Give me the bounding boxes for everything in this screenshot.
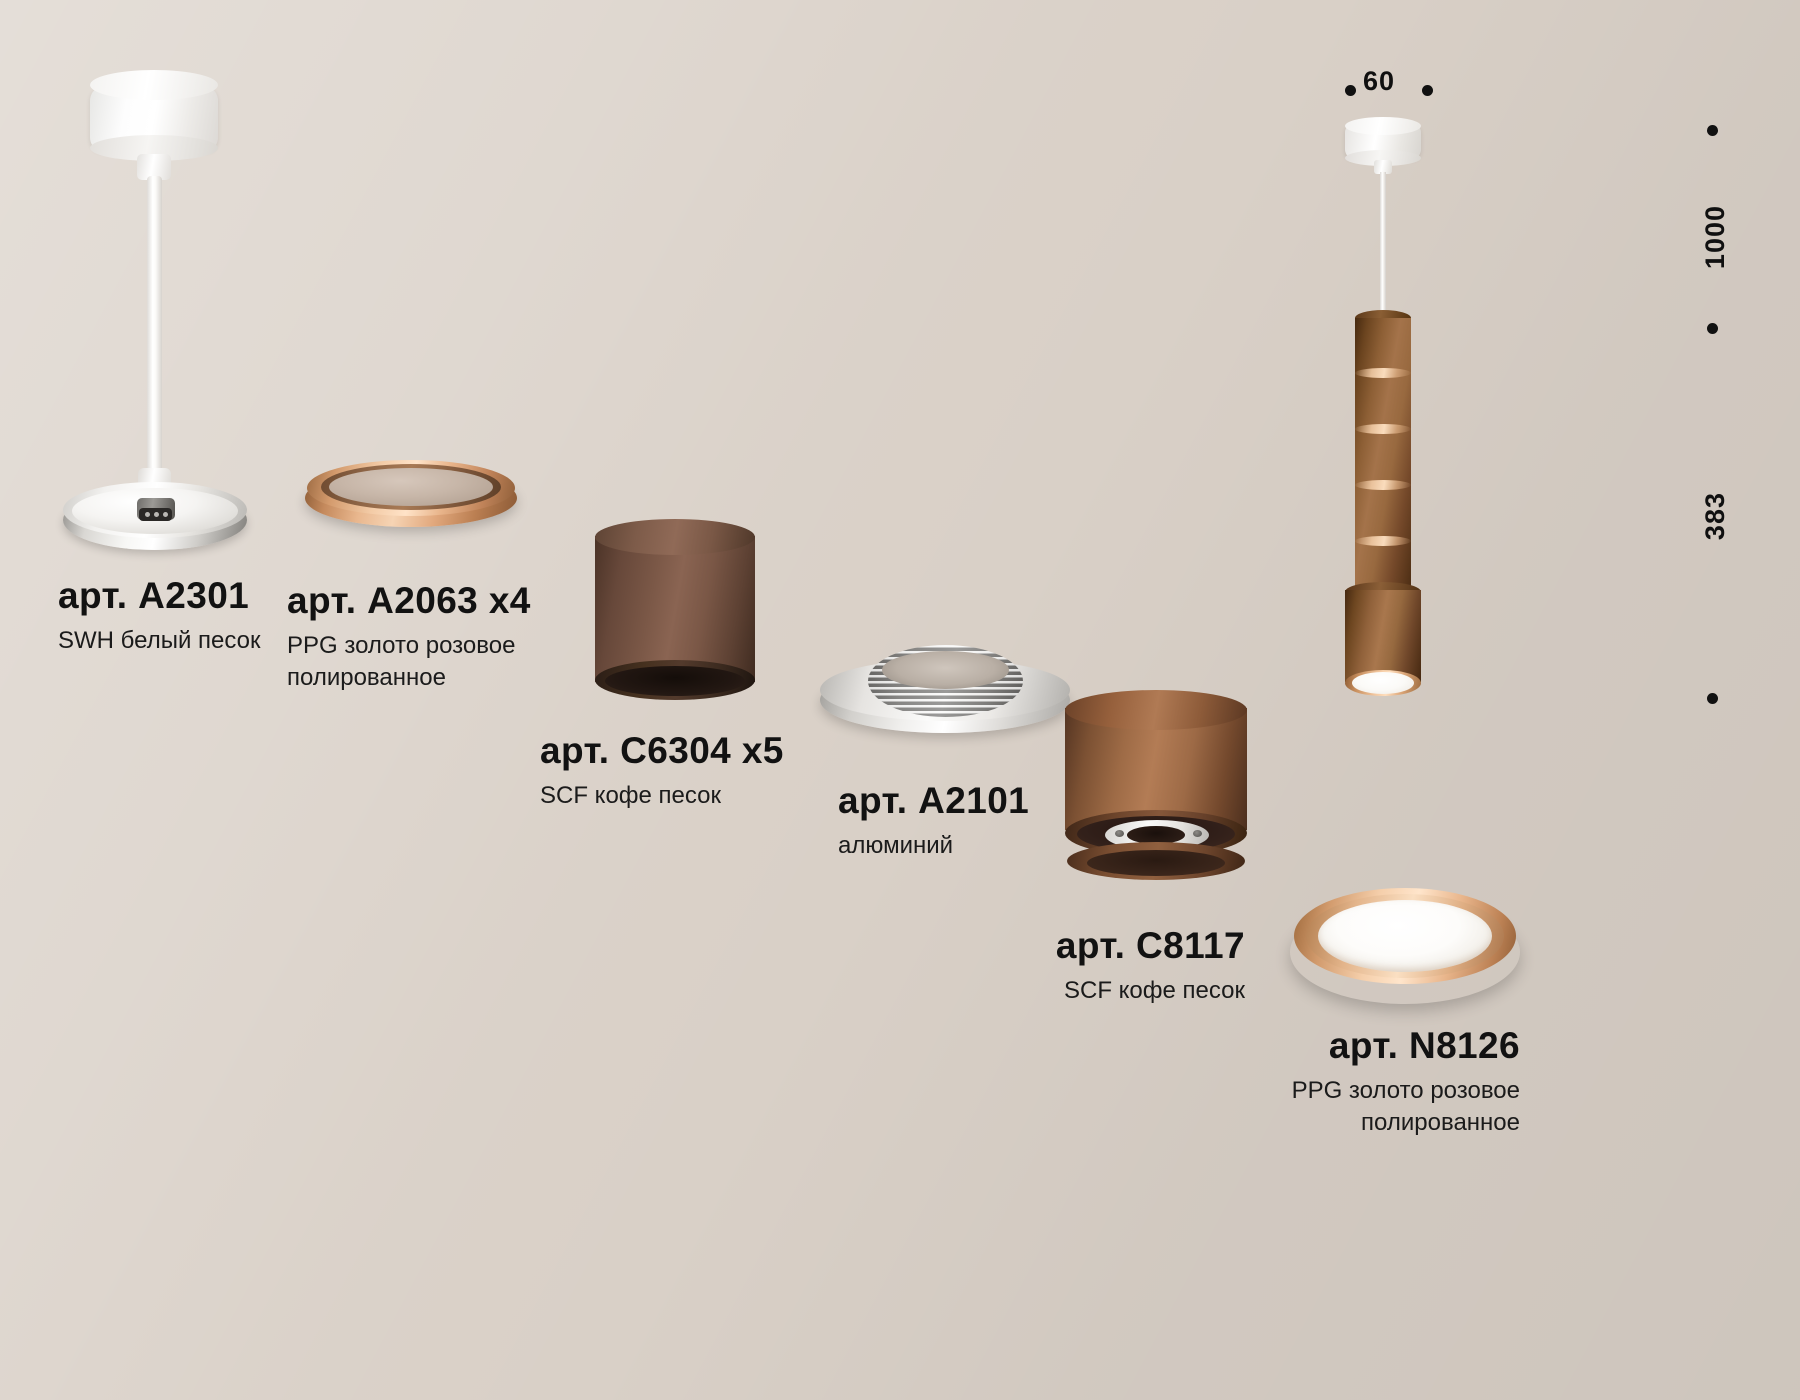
part-graphic-c6304 <box>595 520 770 720</box>
ring-aperture-icon <box>329 468 493 506</box>
hub-dot-icon <box>154 512 159 517</box>
part-spec-label: SWH белый песок <box>58 625 260 656</box>
hub-dot-icon <box>163 512 168 517</box>
part-art-label: арт. N8126 <box>1210 1025 1520 1066</box>
diffuser-glass-icon <box>1318 900 1492 972</box>
hub-dot-icon <box>145 512 150 517</box>
part-spec-label: PPG золото розовое полированное <box>287 630 531 692</box>
label-c6304: арт. C6304 x5 SCF кофе песок <box>540 730 784 812</box>
dimension-dot-icon <box>1707 125 1718 136</box>
part-graphic-a2063 <box>305 455 535 565</box>
part-art-label: арт. A2063 x4 <box>287 580 531 621</box>
label-c8117: арт. C8117 SCF кофе песок <box>955 925 1245 1007</box>
screw-icon <box>1115 830 1124 837</box>
dimension-dot-icon <box>1707 323 1718 334</box>
assembly-ring-seam-icon <box>1355 368 1411 378</box>
label-a2101: арт. A2101 алюминий <box>838 780 1029 862</box>
label-n8126: арт. N8126 PPG золото розовое полированн… <box>1210 1025 1520 1138</box>
assembly-collar-icon <box>1345 590 1421 682</box>
assembly-cap-top-icon <box>1345 117 1421 135</box>
screw-icon <box>1193 830 1202 837</box>
part-graphic-n8126 <box>1290 880 1540 1030</box>
part-graphic-a2101 <box>820 645 1085 765</box>
dimension-dot-icon <box>1707 693 1718 704</box>
assembly-ring-seam-icon <box>1355 480 1411 490</box>
label-a2301: арт. A2301 SWH белый песок <box>58 575 260 657</box>
threaded-collar-aperture-icon <box>882 651 1009 689</box>
assembly-suspension-wire-icon <box>1380 172 1386 322</box>
part-graphic-a2301 <box>85 80 325 480</box>
dimension-dot-icon <box>1422 85 1433 96</box>
housing-skirt-cavity-icon <box>1087 850 1225 876</box>
part-spec-label: SCF кофе песок <box>955 975 1245 1006</box>
part-art-label: арт. A2101 <box>838 780 1029 821</box>
part-spec-label: SCF кофе песок <box>540 780 784 811</box>
dimension-dot-icon <box>1345 85 1356 96</box>
cylinder-top-icon <box>595 519 755 555</box>
ceiling-cap-top-icon <box>90 70 218 100</box>
assembly-tube-icon <box>1355 318 1411 596</box>
assembled-pendant-graphic <box>1335 110 1525 730</box>
cylinder-bottom-cavity-icon <box>605 666 745 696</box>
dimension-width-label: 60 <box>1363 66 1395 97</box>
assembly-diffuser-glass-icon <box>1352 672 1414 694</box>
part-art-label: арт. C6304 x5 <box>540 730 784 771</box>
assembly-ring-seam-icon <box>1355 424 1411 434</box>
part-art-label: арт. A2301 <box>58 575 260 616</box>
suspension-rod-icon <box>147 176 162 476</box>
assembly-diagram-canvas: арт. A2301 SWH белый песок арт. A2063 x4… <box>0 0 1800 1400</box>
housing-top-icon <box>1065 690 1247 730</box>
part-graphic-c8117 <box>1065 690 1275 900</box>
part-spec-label: алюминий <box>838 830 1029 861</box>
dimension-height-label: 383 <box>1700 492 1731 540</box>
part-spec-label: PPG золото розовое полированное <box>1210 1075 1520 1137</box>
label-a2063: арт. A2063 x4 PPG золото розовое полиров… <box>287 580 531 693</box>
dimension-drop-label: 1000 <box>1700 205 1731 269</box>
assembly-ring-seam-icon <box>1355 536 1411 546</box>
part-art-label: арт. C8117 <box>955 925 1245 966</box>
